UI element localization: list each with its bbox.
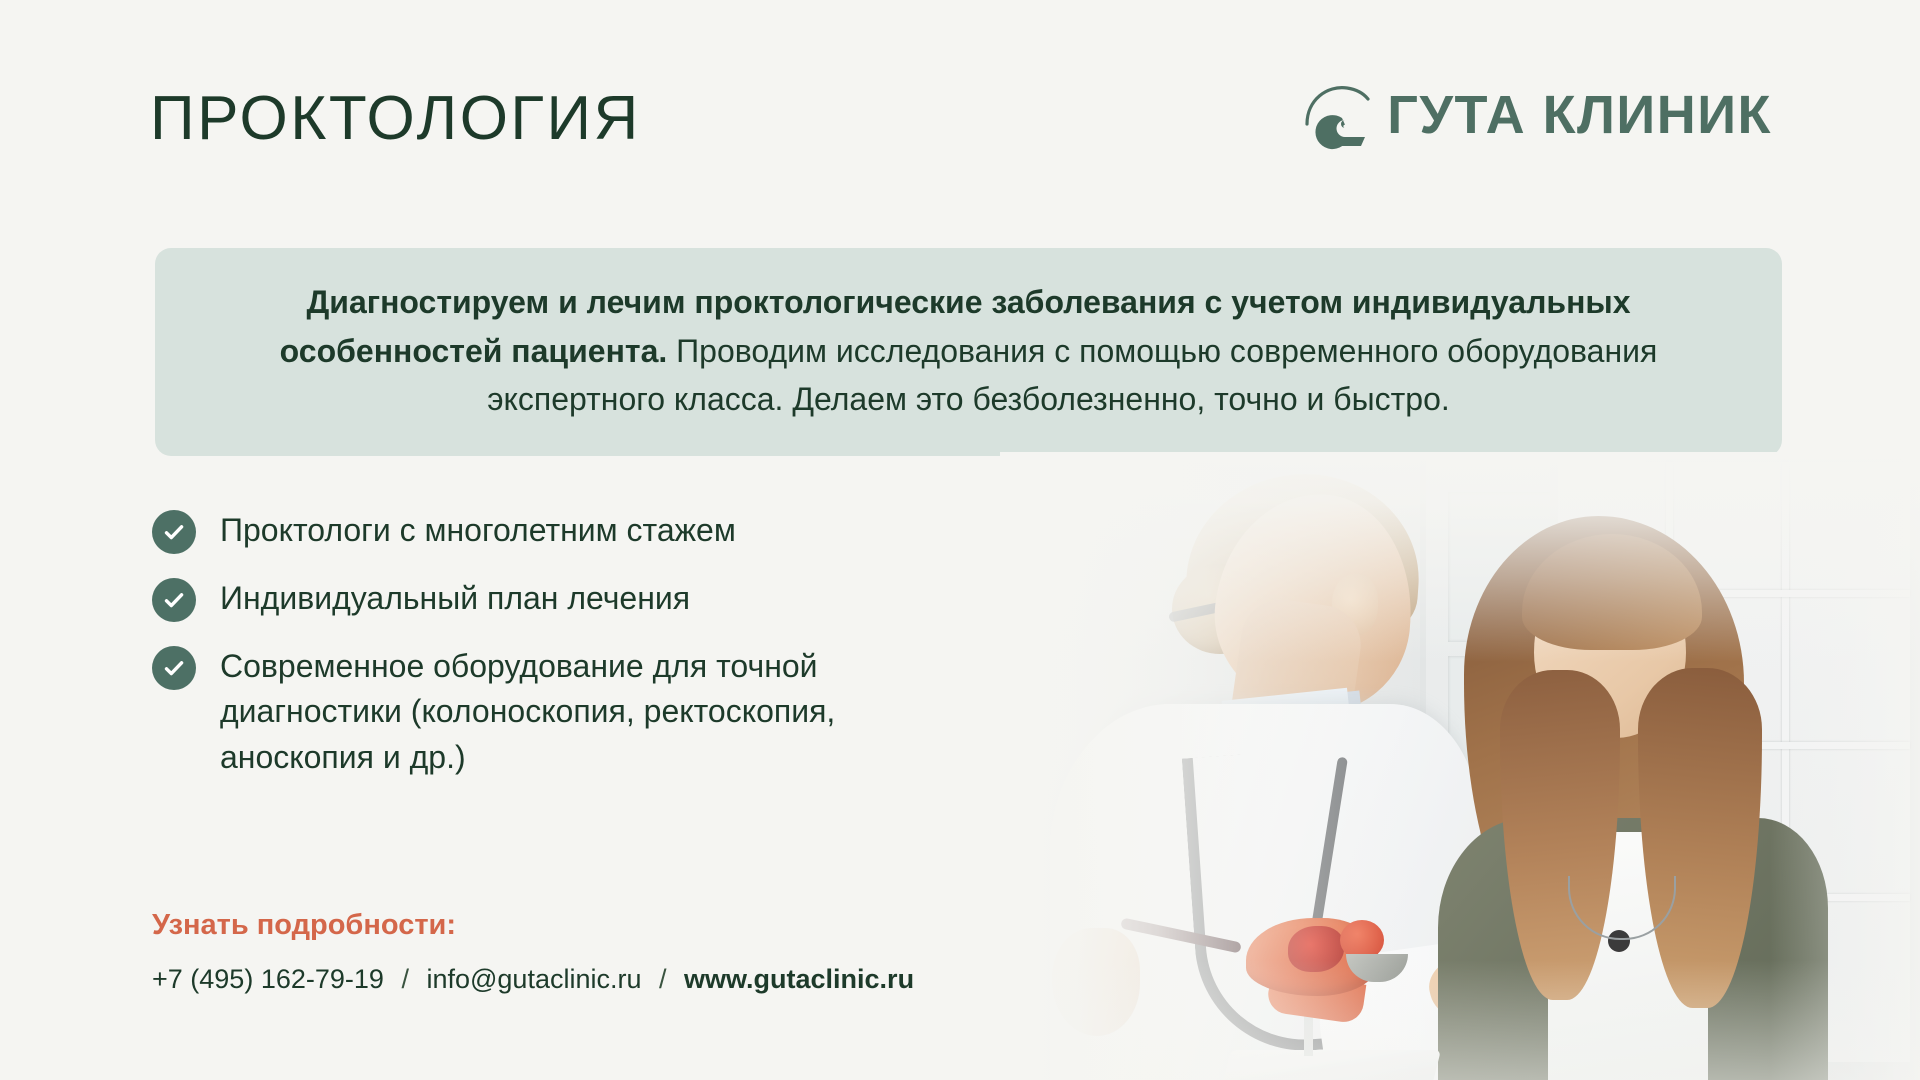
- anatomical-model: [1228, 892, 1418, 1042]
- website-link[interactable]: www.gutaclinic.ru: [684, 964, 914, 994]
- slide-root: ПРОКТОЛОГИЯ ГУТА КЛИНИК Диагностируем и …: [0, 0, 1920, 1080]
- benefit-label: Проктологи с многолетним стажем: [220, 508, 736, 553]
- model-base: [1221, 1050, 1441, 1080]
- list-item: Современное оборудование для точной диаг…: [152, 644, 992, 780]
- logo-text: ГУТА КЛИНИК: [1387, 88, 1772, 142]
- check-circle-icon: [152, 646, 196, 690]
- doctor-pointing-hand: [1052, 928, 1140, 1036]
- contacts-cta: Узнать подробности:: [152, 908, 914, 943]
- check-circle-icon: [152, 510, 196, 554]
- description-box: Диагностируем и лечим проктологические з…: [155, 248, 1782, 456]
- clinic-logo[interactable]: ГУТА КЛИНИК: [1301, 78, 1772, 152]
- patient-necklace: [1608, 930, 1630, 952]
- benefit-label: Индивидуальный план лечения: [220, 576, 690, 621]
- model-core: [1288, 926, 1344, 972]
- phone-number[interactable]: +7 (495) 162-79-19: [152, 964, 384, 994]
- list-item: Индивидуальный план лечения: [152, 576, 992, 622]
- doctor-patient-photo: [1000, 452, 1920, 1080]
- description-text: Диагностируем и лечим проктологические з…: [201, 278, 1736, 424]
- benefit-label: Современное оборудование для точной диаг…: [220, 644, 992, 780]
- benefits-list: Проктологи с многолетним стажем Индивиду…: [152, 508, 992, 780]
- separator: /: [401, 964, 409, 994]
- email-address[interactable]: info@gutaclinic.ru: [426, 964, 641, 994]
- contacts-line: +7 (495) 162-79-19 / info@gutaclinic.ru …: [152, 963, 914, 995]
- contacts-block: Узнать подробности: +7 (495) 162-79-19 /…: [152, 908, 914, 995]
- photo-patient: [1430, 500, 1860, 1080]
- page-title: ПРОКТОЛОГИЯ: [150, 88, 641, 150]
- separator: /: [659, 964, 667, 994]
- spiral-snail-icon: [1301, 80, 1375, 154]
- check-circle-icon: [152, 578, 196, 622]
- list-item: Проктологи с многолетним стажем: [152, 508, 992, 554]
- photo-scene: [1000, 452, 1920, 1080]
